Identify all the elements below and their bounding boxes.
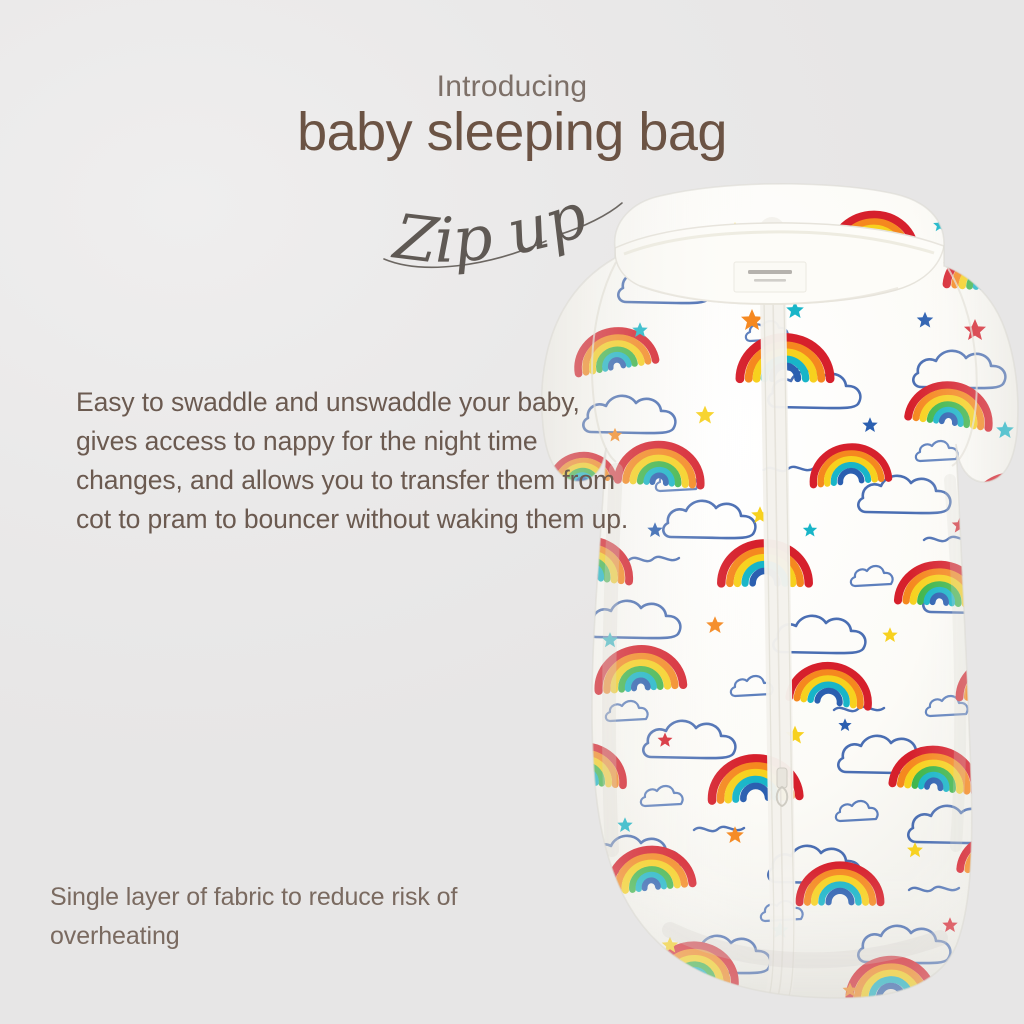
script-accent-text: Zip up — [388, 178, 595, 277]
fabric-note: Single layer of fabric to reduce risk of… — [50, 878, 520, 956]
poster-canvas: Introducing baby sleeping bag Zip up Eas… — [0, 0, 1024, 1024]
fabric-shading — [520, 170, 1024, 1010]
feature-description-text: Easy to swaddle and unswaddle your baby,… — [76, 383, 636, 539]
script-accent: Zip up — [370, 183, 670, 278]
product-image — [520, 170, 1024, 1010]
garment-fabric — [520, 170, 1024, 1010]
feature-description: Easy to swaddle and unswaddle your baby,… — [76, 383, 636, 539]
intro-label: Introducing — [0, 70, 1024, 104]
page-title: baby sleeping bag — [0, 101, 1024, 163]
fabric-note-text: Single layer of fabric to reduce risk of… — [50, 878, 520, 956]
